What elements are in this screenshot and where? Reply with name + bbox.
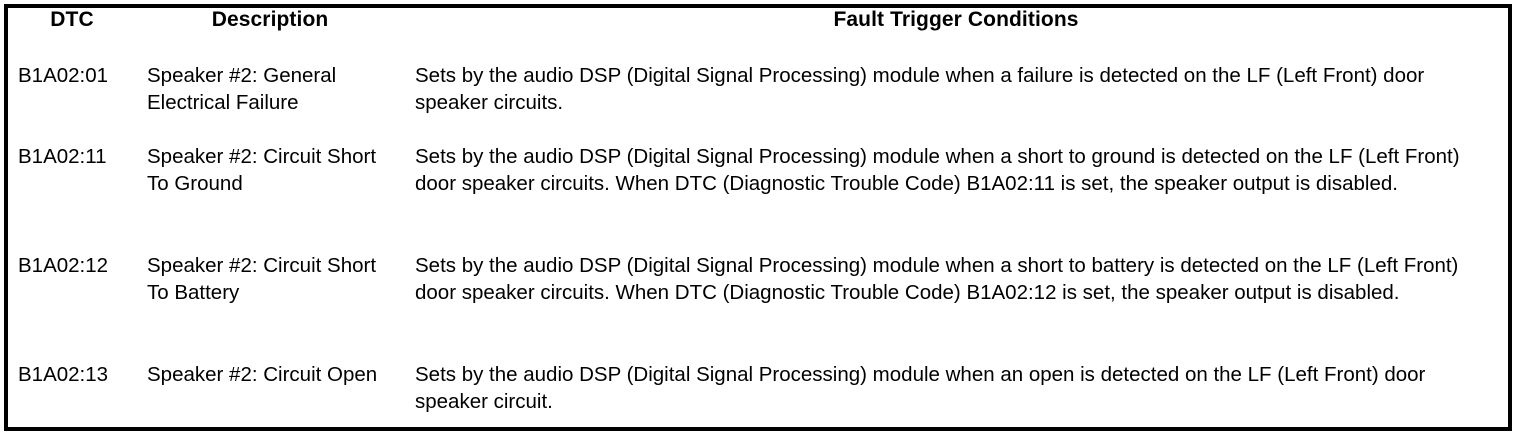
conditions-value: Sets by the audio DSP (Digital Signal Pr… [415, 143, 1496, 197]
table-body: B1A02:01 Speaker #2: General Electrical … [6, 52, 1510, 429]
column-header-fault-trigger-conditions: Fault Trigger Conditions [404, 6, 1510, 52]
cell-description: Speaker #2: Circuit Short To Ground [136, 133, 404, 242]
cell-dtc-code: B1A02:01 [6, 52, 136, 133]
cell-dtc-code: B1A02:13 [6, 351, 136, 429]
table-row: B1A02:12 Speaker #2: Circuit Short To Ba… [6, 242, 1510, 351]
header-row: DTC Description Fault Trigger Conditions [6, 6, 1510, 52]
cell-description: Speaker #2: Circuit Short To Battery [136, 242, 404, 351]
dtc-code-value: B1A02:12 [18, 252, 136, 279]
dtc-fault-table: DTC Description Fault Trigger Conditions… [4, 4, 1512, 431]
cell-dtc-code: B1A02:12 [6, 242, 136, 351]
column-header-description: Description [136, 6, 404, 52]
table-row: B1A02:13 Speaker #2: Circuit Open Sets b… [6, 351, 1510, 429]
description-value: Speaker #2: Circuit Short To Ground [147, 143, 394, 197]
dtc-code-value: B1A02:01 [18, 62, 136, 89]
column-header-dtc: DTC [6, 6, 136, 52]
cell-fault-trigger-conditions: Sets by the audio DSP (Digital Signal Pr… [404, 52, 1510, 133]
conditions-value: Sets by the audio DSP (Digital Signal Pr… [415, 252, 1496, 306]
table-row: B1A02:01 Speaker #2: General Electrical … [6, 52, 1510, 133]
conditions-value: Sets by the audio DSP (Digital Signal Pr… [415, 361, 1496, 415]
description-value: Speaker #2: Circuit Short To Battery [147, 252, 394, 306]
cell-description: Speaker #2: General Electrical Failure [136, 52, 404, 133]
cell-dtc-code: B1A02:11 [6, 133, 136, 242]
table-row: B1A02:11 Speaker #2: Circuit Short To Gr… [6, 133, 1510, 242]
cell-description: Speaker #2: Circuit Open [136, 351, 404, 429]
dtc-code-value: B1A02:11 [18, 143, 136, 170]
document-page: DTC Description Fault Trigger Conditions… [0, 0, 1520, 432]
description-value: Speaker #2: Circuit Open [147, 361, 394, 388]
dtc-code-value: B1A02:13 [18, 361, 136, 388]
cell-fault-trigger-conditions: Sets by the audio DSP (Digital Signal Pr… [404, 242, 1510, 351]
table-header: DTC Description Fault Trigger Conditions [6, 6, 1510, 52]
conditions-value: Sets by the audio DSP (Digital Signal Pr… [415, 62, 1496, 116]
description-value: Speaker #2: General Electrical Failure [147, 62, 394, 116]
cell-fault-trigger-conditions: Sets by the audio DSP (Digital Signal Pr… [404, 351, 1510, 429]
cell-fault-trigger-conditions: Sets by the audio DSP (Digital Signal Pr… [404, 133, 1510, 242]
